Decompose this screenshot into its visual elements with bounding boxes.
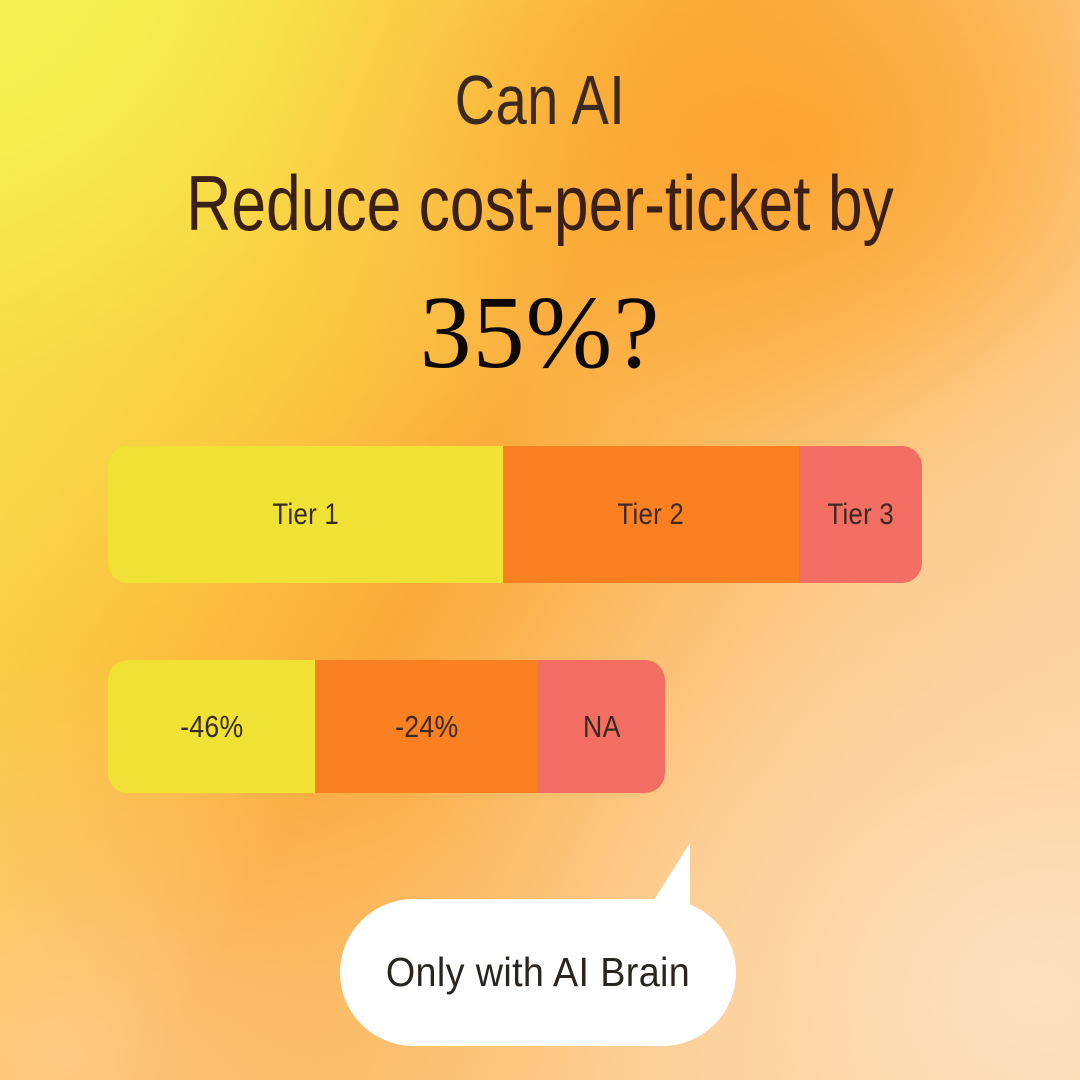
bar-segment-1: Tier 1 — [108, 446, 503, 583]
headline-line-1: Can AI — [108, 52, 972, 148]
poster-canvas: Can AI Reduce cost-per-ticket by 35%? Ti… — [0, 0, 1080, 1080]
headline-stat: 35%? — [0, 268, 1080, 398]
bar-segment-3: NA — [538, 660, 665, 793]
bar-segment-3: Tier 3 — [799, 446, 922, 583]
bar-segment-2: Tier 2 — [503, 446, 799, 583]
bar-segment-label: -46% — [180, 709, 243, 745]
bar-segment-label: Tier 2 — [618, 498, 685, 532]
bar-segment-1: -46% — [108, 660, 315, 793]
callout-text: Only with AI Brain — [356, 899, 720, 1046]
bar-segment-label: NA — [583, 709, 621, 745]
bar-segment-label: Tier 3 — [827, 498, 894, 532]
value-bar: -46%-24%NA — [108, 660, 665, 793]
bar-segment-2: -24% — [315, 660, 538, 793]
tier-bar: Tier 1Tier 2Tier 3 — [108, 446, 922, 583]
bar-segment-label: -24% — [395, 709, 458, 745]
callout-speech-bubble: Only with AI Brain — [340, 899, 736, 1046]
headline-line-2: Reduce cost-per-ticket by — [108, 152, 972, 254]
bar-segment-label: Tier 1 — [272, 498, 339, 532]
headline-block: Can AI Reduce cost-per-ticket by 35%? — [0, 52, 1080, 398]
